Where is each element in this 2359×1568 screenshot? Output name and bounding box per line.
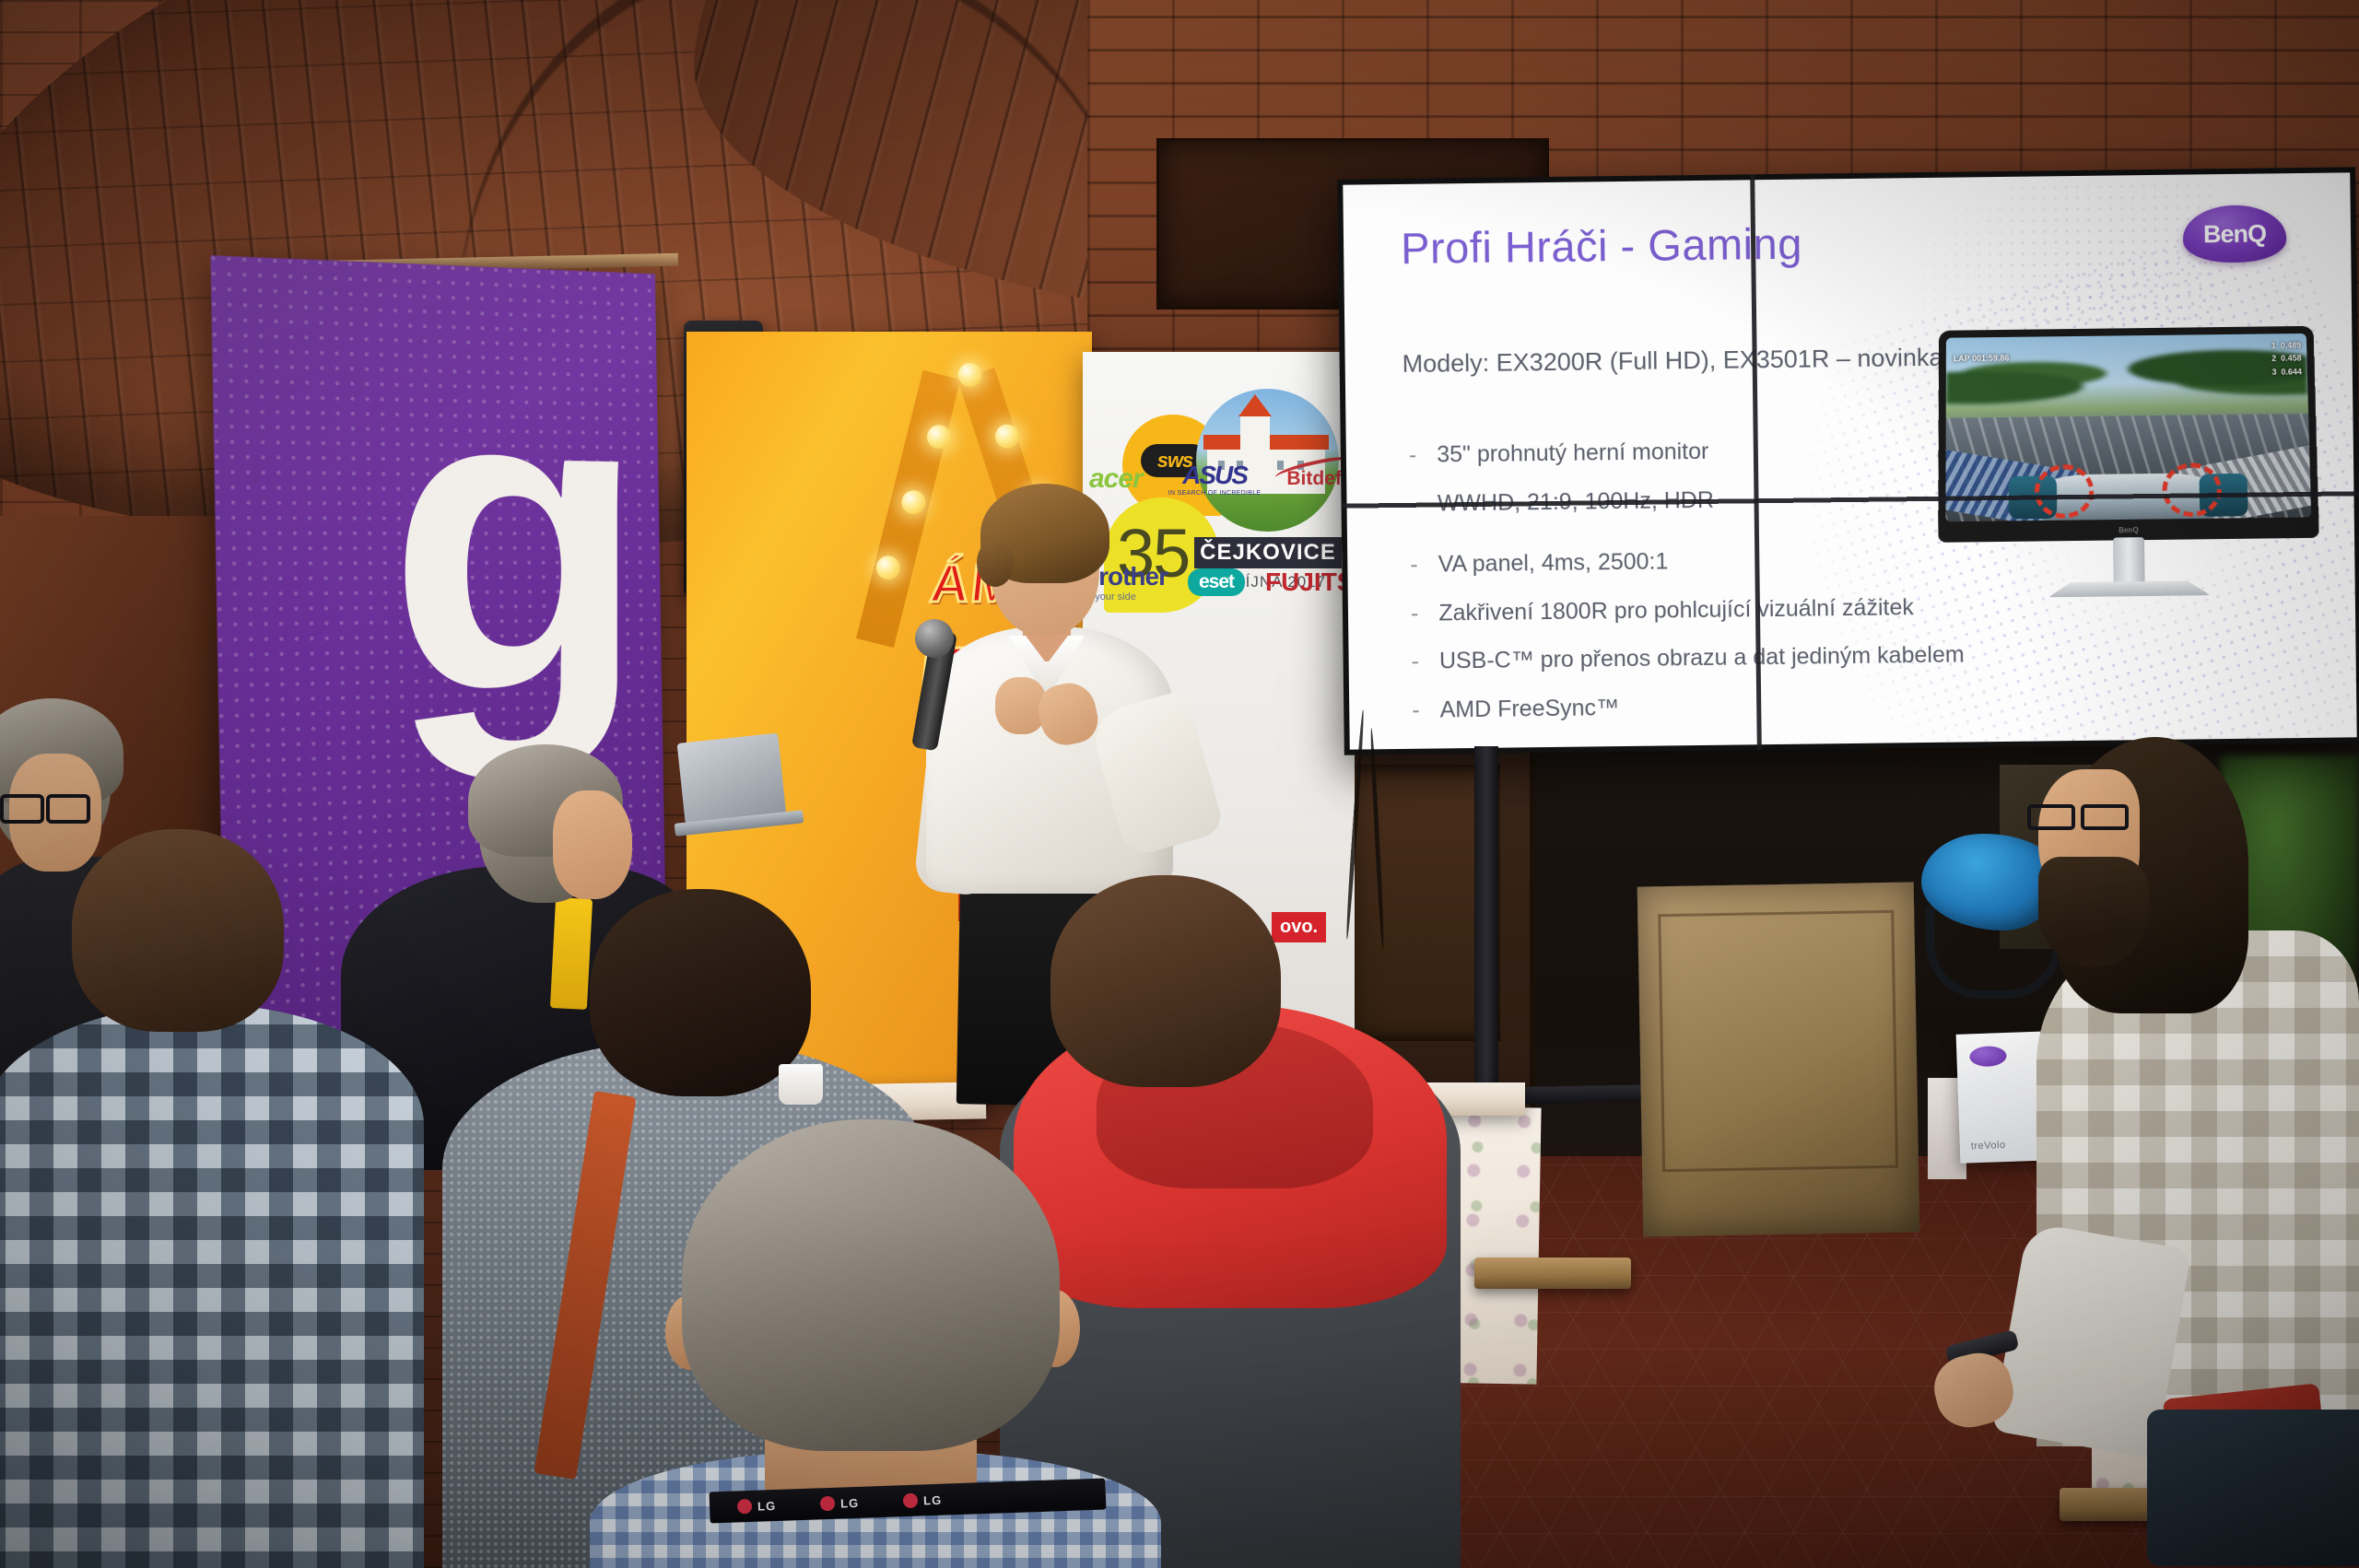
audience-black-jacket-face [553,790,632,899]
attendee-bag [2147,1410,2359,1566]
acer-logo: acer [1089,463,1143,495]
slide-bullet: -USB-C™ pro přenos obrazu a dat jediným … [1411,639,2019,677]
lg-dot-icon [737,1499,753,1515]
curved-monitor-image: LAP 001:59.86 1 0.489 2 0.458 3 0.644 Be… [1937,325,2318,542]
slide-bullet: -Zakřivení 1800R pro pohlcující vizuální… [1411,591,2019,628]
bullet-dash: - [1409,440,1417,471]
slide-title: Profi Hráči - Gaming [1401,218,1802,274]
slide-bullet: -VA panel, 4ms, 2500:1 [1410,543,2018,580]
game-trees [1946,333,2309,422]
audience-foreground-head [682,1119,1060,1451]
bullet-dash: - [1412,695,1420,725]
video-wall-display[interactable]: Profi Hráči - Gaming Modely: EX3200R (Fu… [1337,167,2359,755]
monitor-bezel: LAP 001:59.86 1 0.489 2 0.458 3 0.644 Be… [1938,326,2319,543]
presenter-hair-bun [977,539,1014,587]
lanyard-mark: LG [737,1498,777,1514]
wooden-bench-center [1474,1258,1631,1289]
purple-banner-glyph: g [387,365,613,805]
slide-bullet: -35" prohnutý herní monitor [1409,433,2017,471]
monitor-stand-base [2048,580,2211,597]
bullet-text: USB-C™ pro přenos obrazu a dat jediným k… [1439,640,1965,676]
bullet-text: AMD FreeSync™ [1439,693,1619,725]
asus-logo: ASUS IN SEARCH OF INCREDIBLE [1168,461,1262,497]
lanyard-brand: LG [840,1495,860,1510]
laptop-lid [677,733,787,825]
game-hud-lap-time: LAP 001:59.86 [1954,354,2010,364]
slide-bullet: -AMD FreeSync™ [1412,687,2020,725]
eyeglasses-icon [0,794,85,818]
bullet-text: VA panel, 4ms, 2500:1 [1438,546,1668,579]
audience-plaid-shirt-body [0,1004,424,1568]
lanyard-brand: LG [923,1492,943,1507]
benq-box-product-name: treVolo [1971,1140,2006,1152]
benq-logo-text: BenQ [2203,219,2266,249]
slide-bullet-list: -35" prohnutý herní monitor -WWHD, 21:9,… [1409,433,2022,750]
bullet-dash: - [1410,550,1418,580]
lanyard-brand: LG [757,1498,777,1513]
bullet-dash: - [1413,743,1421,750]
eset-logo: eset [1188,568,1245,596]
monitor-brand-mark: BenQ [2118,525,2139,533]
sponsor-row-2: brother at your side eset FUJITSU [1084,562,1373,603]
audience-hoodie-head [1050,875,1281,1087]
lanyard-mark: LG [820,1495,860,1511]
bullet-text: 35" prohnutý herní monitor [1437,437,1709,470]
benq-box-logo-icon [1969,1046,2007,1067]
presentation-slide: Profi Hráči - Gaming Modely: EX3200R (Fu… [1343,172,2356,749]
game-track [1945,414,2311,521]
bullet-dash: - [1411,598,1419,628]
lg-dot-icon [820,1496,836,1512]
laptop[interactable] [677,731,807,845]
lg-dot-icon [903,1493,919,1509]
audience-grey-coat-head [590,889,811,1096]
attendee-eyeglasses-icon [2027,804,2129,825]
audience-yellow-tie [550,897,593,1010]
video-wall-stand-post [1474,746,1498,1096]
attendee-beard [2038,857,2149,967]
lenovo-logo: ovo. [1272,912,1326,942]
bullet-text-multi: Eye-Care Technology,Flicker-free, Low Bl… [1440,736,2021,750]
monitor-stand-neck [2113,537,2145,585]
game-hud-leaderboard: 1 0.489 2 0.458 3 0.644 [2271,339,2302,379]
slide-bullet: - Eye-Care Technology,Flicker-free, Low … [1413,736,2022,750]
bullet-text: Zakřivení 1800R pro pohlcující vizuální … [1438,592,1914,628]
bullet-dash: - [1411,647,1419,677]
audience-plaid-shirt-head [72,829,284,1032]
paper-cup [779,1064,823,1105]
large-cardboard-box [1637,882,1920,1236]
photo-scene: g ÁM ME sws 35. ČEJKOVICE 12. ŘÍJNA [0,0,2359,1568]
lanyard-mark: LG [903,1492,943,1508]
